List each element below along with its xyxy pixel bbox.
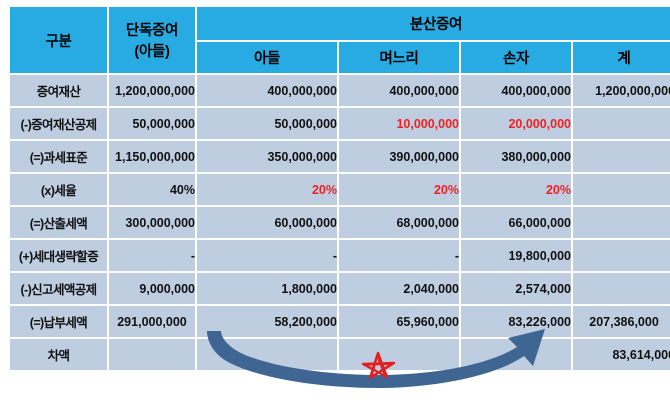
cell-son: 58,200,000 [197, 306, 337, 337]
cell-single: - [109, 240, 195, 271]
header-single-gift: 단독증여 (아들) [109, 7, 195, 73]
cell-total [573, 108, 670, 139]
cell-son: 60,000,000 [197, 207, 337, 238]
cell-grandson [461, 339, 571, 370]
cell-daughter-in-law [339, 339, 459, 370]
cell-grandson: 20,000,000 [461, 108, 571, 139]
cell-daughter-in-law: 65,960,000 [339, 306, 459, 337]
header-single-gift-line1: 단독증여 [126, 23, 178, 39]
cell-single: 300,000,000 [109, 207, 195, 238]
row-label: (-)신고세액공제 [10, 273, 107, 304]
header-sub-grandson: 손자 [461, 42, 571, 73]
table-row: (=)산출세액300,000,00060,000,00068,000,00066… [10, 207, 670, 238]
table-row: 차액83,614,000 [10, 339, 670, 370]
row-label: (=)납부세액 [10, 306, 107, 337]
cell-grandson: 20% [461, 174, 571, 205]
cell-single: 9,000,000 [109, 273, 195, 304]
cell-single: 1,150,000,000 [109, 141, 195, 172]
cell-daughter-in-law: 390,000,000 [339, 141, 459, 172]
cell-son [197, 339, 337, 370]
cell-single: 1,200,000,000 [109, 75, 195, 106]
cell-single: 50,000,000 [109, 108, 195, 139]
row-label: (x)세율 [10, 174, 107, 205]
cell-total [573, 240, 670, 271]
table-row: (+)세대생략할증---19,800,000 [10, 240, 670, 271]
row-label: (+)세대생략할증 [10, 240, 107, 271]
row-label: 증여재산 [10, 75, 107, 106]
row-label: (-)증여재산공제 [10, 108, 107, 139]
cell-daughter-in-law: 2,040,000 [339, 273, 459, 304]
table-header: 구분 단독증여 (아들) 분산증여 아들 며느리 손자 계 [10, 7, 670, 73]
cell-total: 83,614,000 [573, 339, 670, 370]
table-row: 증여재산1,200,000,000400,000,000400,000,0004… [10, 75, 670, 106]
table-row: (-)증여재산공제50,000,00050,000,00010,000,0002… [10, 108, 670, 139]
cell-grandson: 19,800,000 [461, 240, 571, 271]
cell-daughter-in-law: 20% [339, 174, 459, 205]
header-split-gift: 분산증여 [197, 7, 670, 40]
cell-single: 40% [109, 174, 195, 205]
cell-son: 50,000,000 [197, 108, 337, 139]
cell-daughter-in-law: 68,000,000 [339, 207, 459, 238]
header-division: 구분 [10, 7, 107, 73]
header-sub-total: 계 [573, 42, 670, 73]
row-label: 차액 [10, 339, 107, 370]
header-sub-daughter-in-law: 며느리 [339, 42, 459, 73]
table-row: (=)납부세액291,000,00058,200,00065,960,00083… [10, 306, 670, 337]
cell-grandson: 83,226,000 [461, 306, 571, 337]
cell-son: - [197, 240, 337, 271]
cell-daughter-in-law: 400,000,000 [339, 75, 459, 106]
row-label: (=)산출세액 [10, 207, 107, 238]
cell-daughter-in-law: - [339, 240, 459, 271]
cell-daughter-in-law: 10,000,000 [339, 108, 459, 139]
cell-single: 291,000,000 [109, 306, 195, 337]
cell-total [573, 207, 670, 238]
table-row: (=)과세표준1,150,000,000350,000,000390,000,0… [10, 141, 670, 172]
header-row-top: 구분 단독증여 (아들) 분산증여 [10, 7, 670, 40]
cell-son: 400,000,000 [197, 75, 337, 106]
header-single-gift-line2: (아들) [109, 40, 195, 61]
cell-total [573, 141, 670, 172]
table-row: (x)세율40%20%20%20% [10, 174, 670, 205]
cell-grandson: 400,000,000 [461, 75, 571, 106]
cell-grandson: 66,000,000 [461, 207, 571, 238]
row-label: (=)과세표준 [10, 141, 107, 172]
cell-grandson: 2,574,000 [461, 273, 571, 304]
cell-total: 1,200,000,000 [573, 75, 670, 106]
slide-root: 구분 단독증여 (아들) 분산증여 아들 며느리 손자 계 증여재산1,200,… [0, 0, 670, 400]
cell-total [573, 174, 670, 205]
cell-total [573, 273, 670, 304]
cell-single [109, 339, 195, 370]
header-sub-son: 아들 [197, 42, 337, 73]
cell-total: 207,386,000 [573, 306, 670, 337]
cell-grandson: 380,000,000 [461, 141, 571, 172]
table-body: 증여재산1,200,000,000400,000,000400,000,0004… [10, 75, 670, 370]
gift-tax-comparison-table: 구분 단독증여 (아들) 분산증여 아들 며느리 손자 계 증여재산1,200,… [8, 5, 670, 372]
cell-son: 350,000,000 [197, 141, 337, 172]
cell-son: 1,800,000 [197, 273, 337, 304]
cell-son: 20% [197, 174, 337, 205]
table-row: (-)신고세액공제9,000,0001,800,0002,040,0002,57… [10, 273, 670, 304]
